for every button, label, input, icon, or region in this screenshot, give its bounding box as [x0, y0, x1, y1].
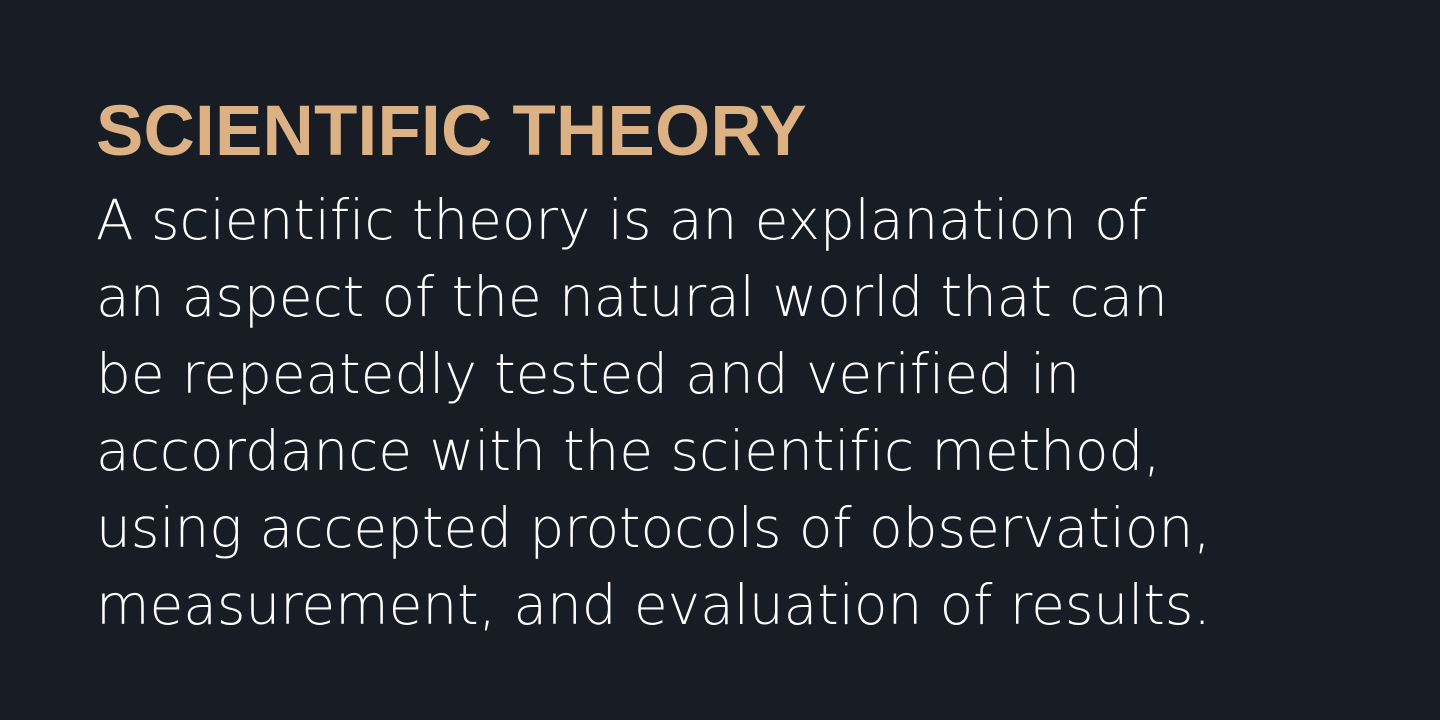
page-title: SCIENTIFIC THEORY: [96, 90, 1380, 174]
definition-line: an aspect of the natural world that can: [96, 259, 1380, 336]
definition-line: accordance with the scientific method,: [96, 413, 1380, 490]
card-content: SCIENTIFIC THEORY A scientific theory is…: [96, 90, 1380, 644]
definition-line: be repeatedly tested and verified in: [96, 336, 1380, 413]
definition-line: A scientific theory is an explanation of: [96, 182, 1380, 259]
definition-line: measurement, and evaluation of results.: [96, 567, 1380, 644]
definition-card: SCIENTIFIC THEORY A scientific theory is…: [0, 0, 1440, 720]
definition-text: A scientific theory is an explanation of…: [96, 182, 1380, 644]
definition-line: using accepted protocols of observation,: [96, 490, 1380, 567]
